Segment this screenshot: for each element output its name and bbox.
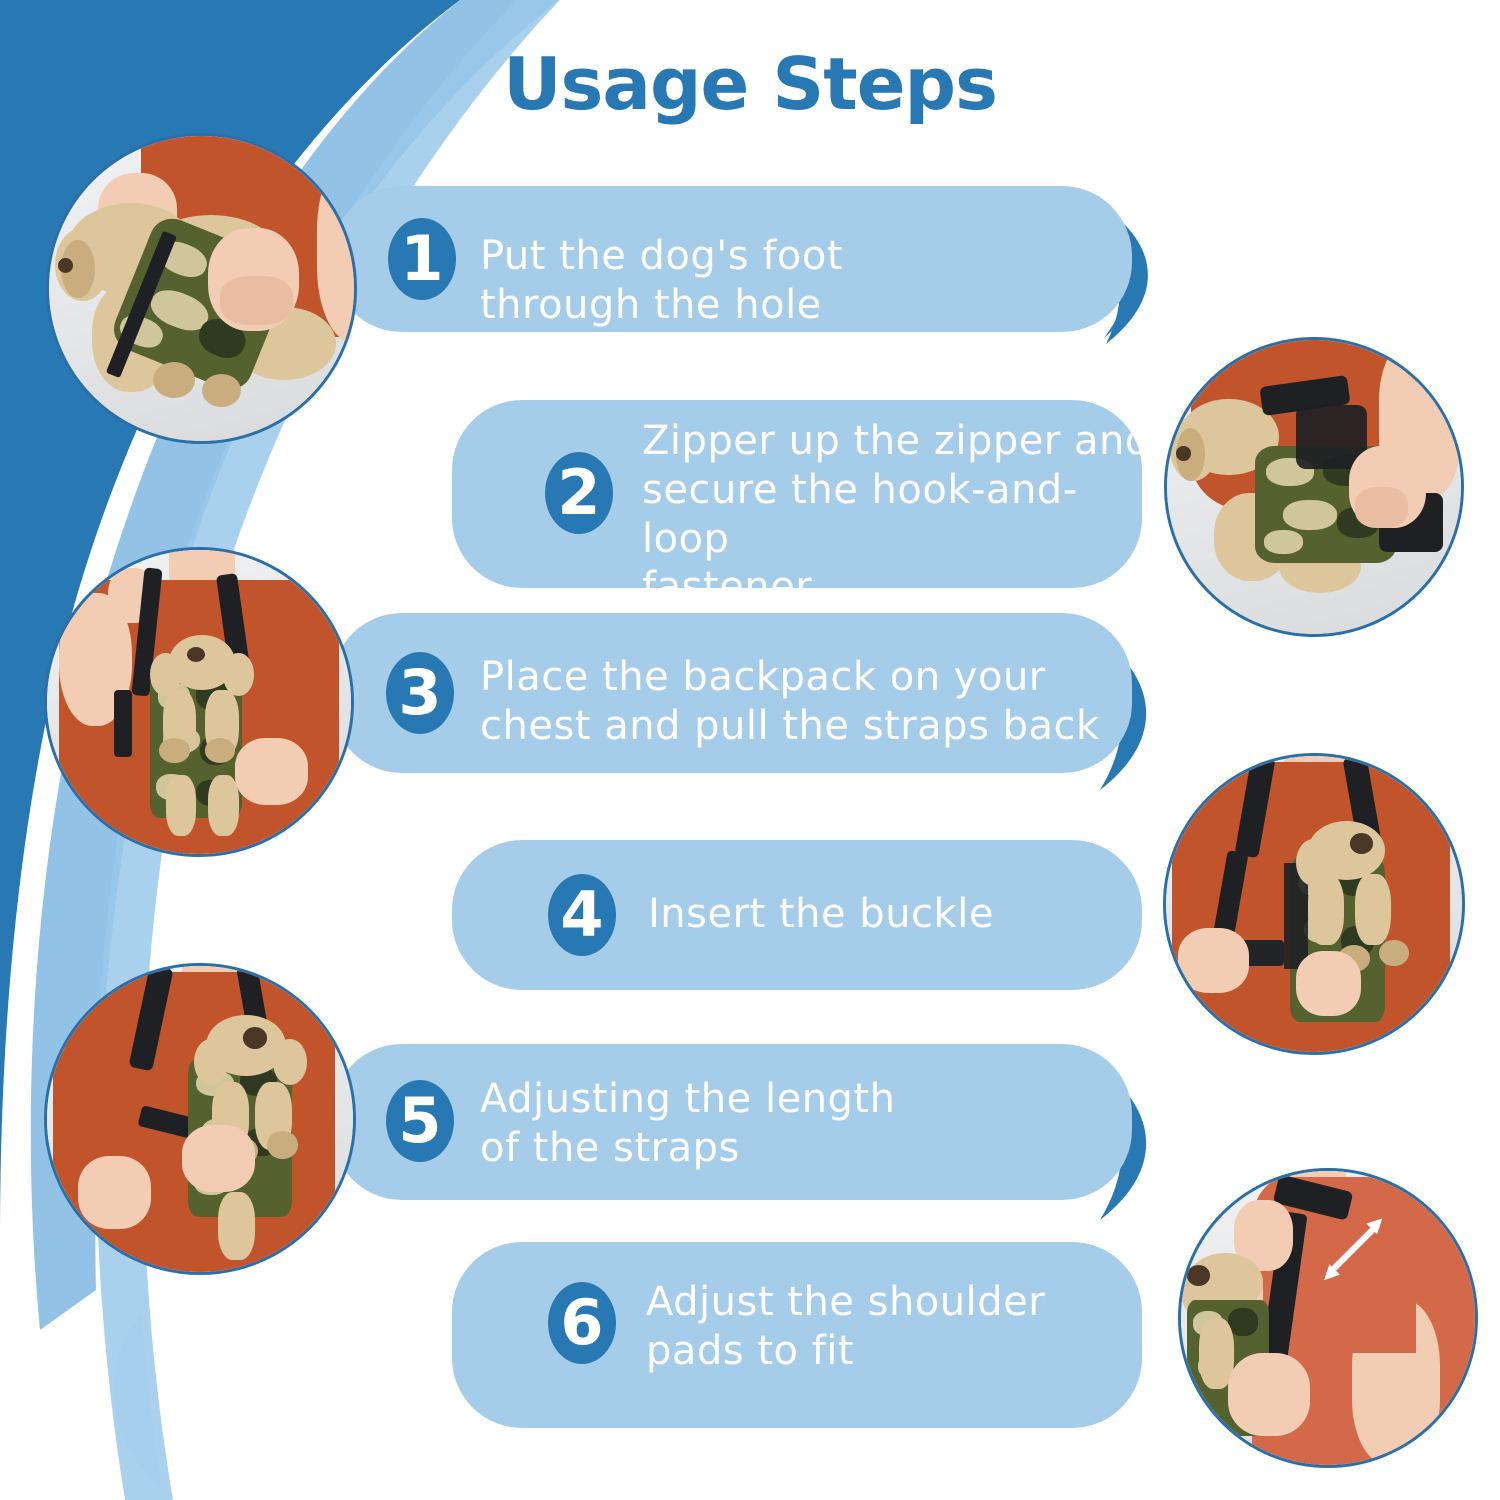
step-text-6: Adjust the shoulder pads to fit: [646, 1278, 1126, 1376]
step-photo-6: [1178, 1168, 1478, 1468]
step-number-badge-1: 1: [388, 218, 456, 300]
step-text-2: Zipper up the zipper and secure the hook…: [642, 417, 1152, 612]
step-text-5: Adjusting the length of the straps: [480, 1075, 1080, 1173]
step-text-3: Place the backpack on your chest and pul…: [480, 653, 1120, 751]
step-photo-1: [46, 133, 357, 444]
step-number-badge-3: 3: [386, 652, 454, 734]
step-photo-5: [44, 963, 356, 1275]
step-number-badge-5: 5: [386, 1080, 454, 1162]
step-number-badge-6: 6: [548, 1282, 616, 1364]
step-number-badge-4: 4: [548, 874, 616, 956]
step-photo-4: [1163, 753, 1465, 1055]
page-title: Usage Steps: [0, 42, 1500, 126]
step-number-badge-2: 2: [545, 452, 613, 534]
infographic-canvas: Usage Steps 1 Put the dog's foot through…: [0, 0, 1500, 1500]
step-photo-3: [44, 547, 354, 857]
step-text-4: Insert the buckle: [648, 890, 1118, 939]
step-photo-2: [1164, 337, 1464, 637]
double-arrow-annotation-icon: [1310, 1206, 1398, 1294]
step-text-1: Put the dog's foot through the hole: [480, 232, 1100, 330]
